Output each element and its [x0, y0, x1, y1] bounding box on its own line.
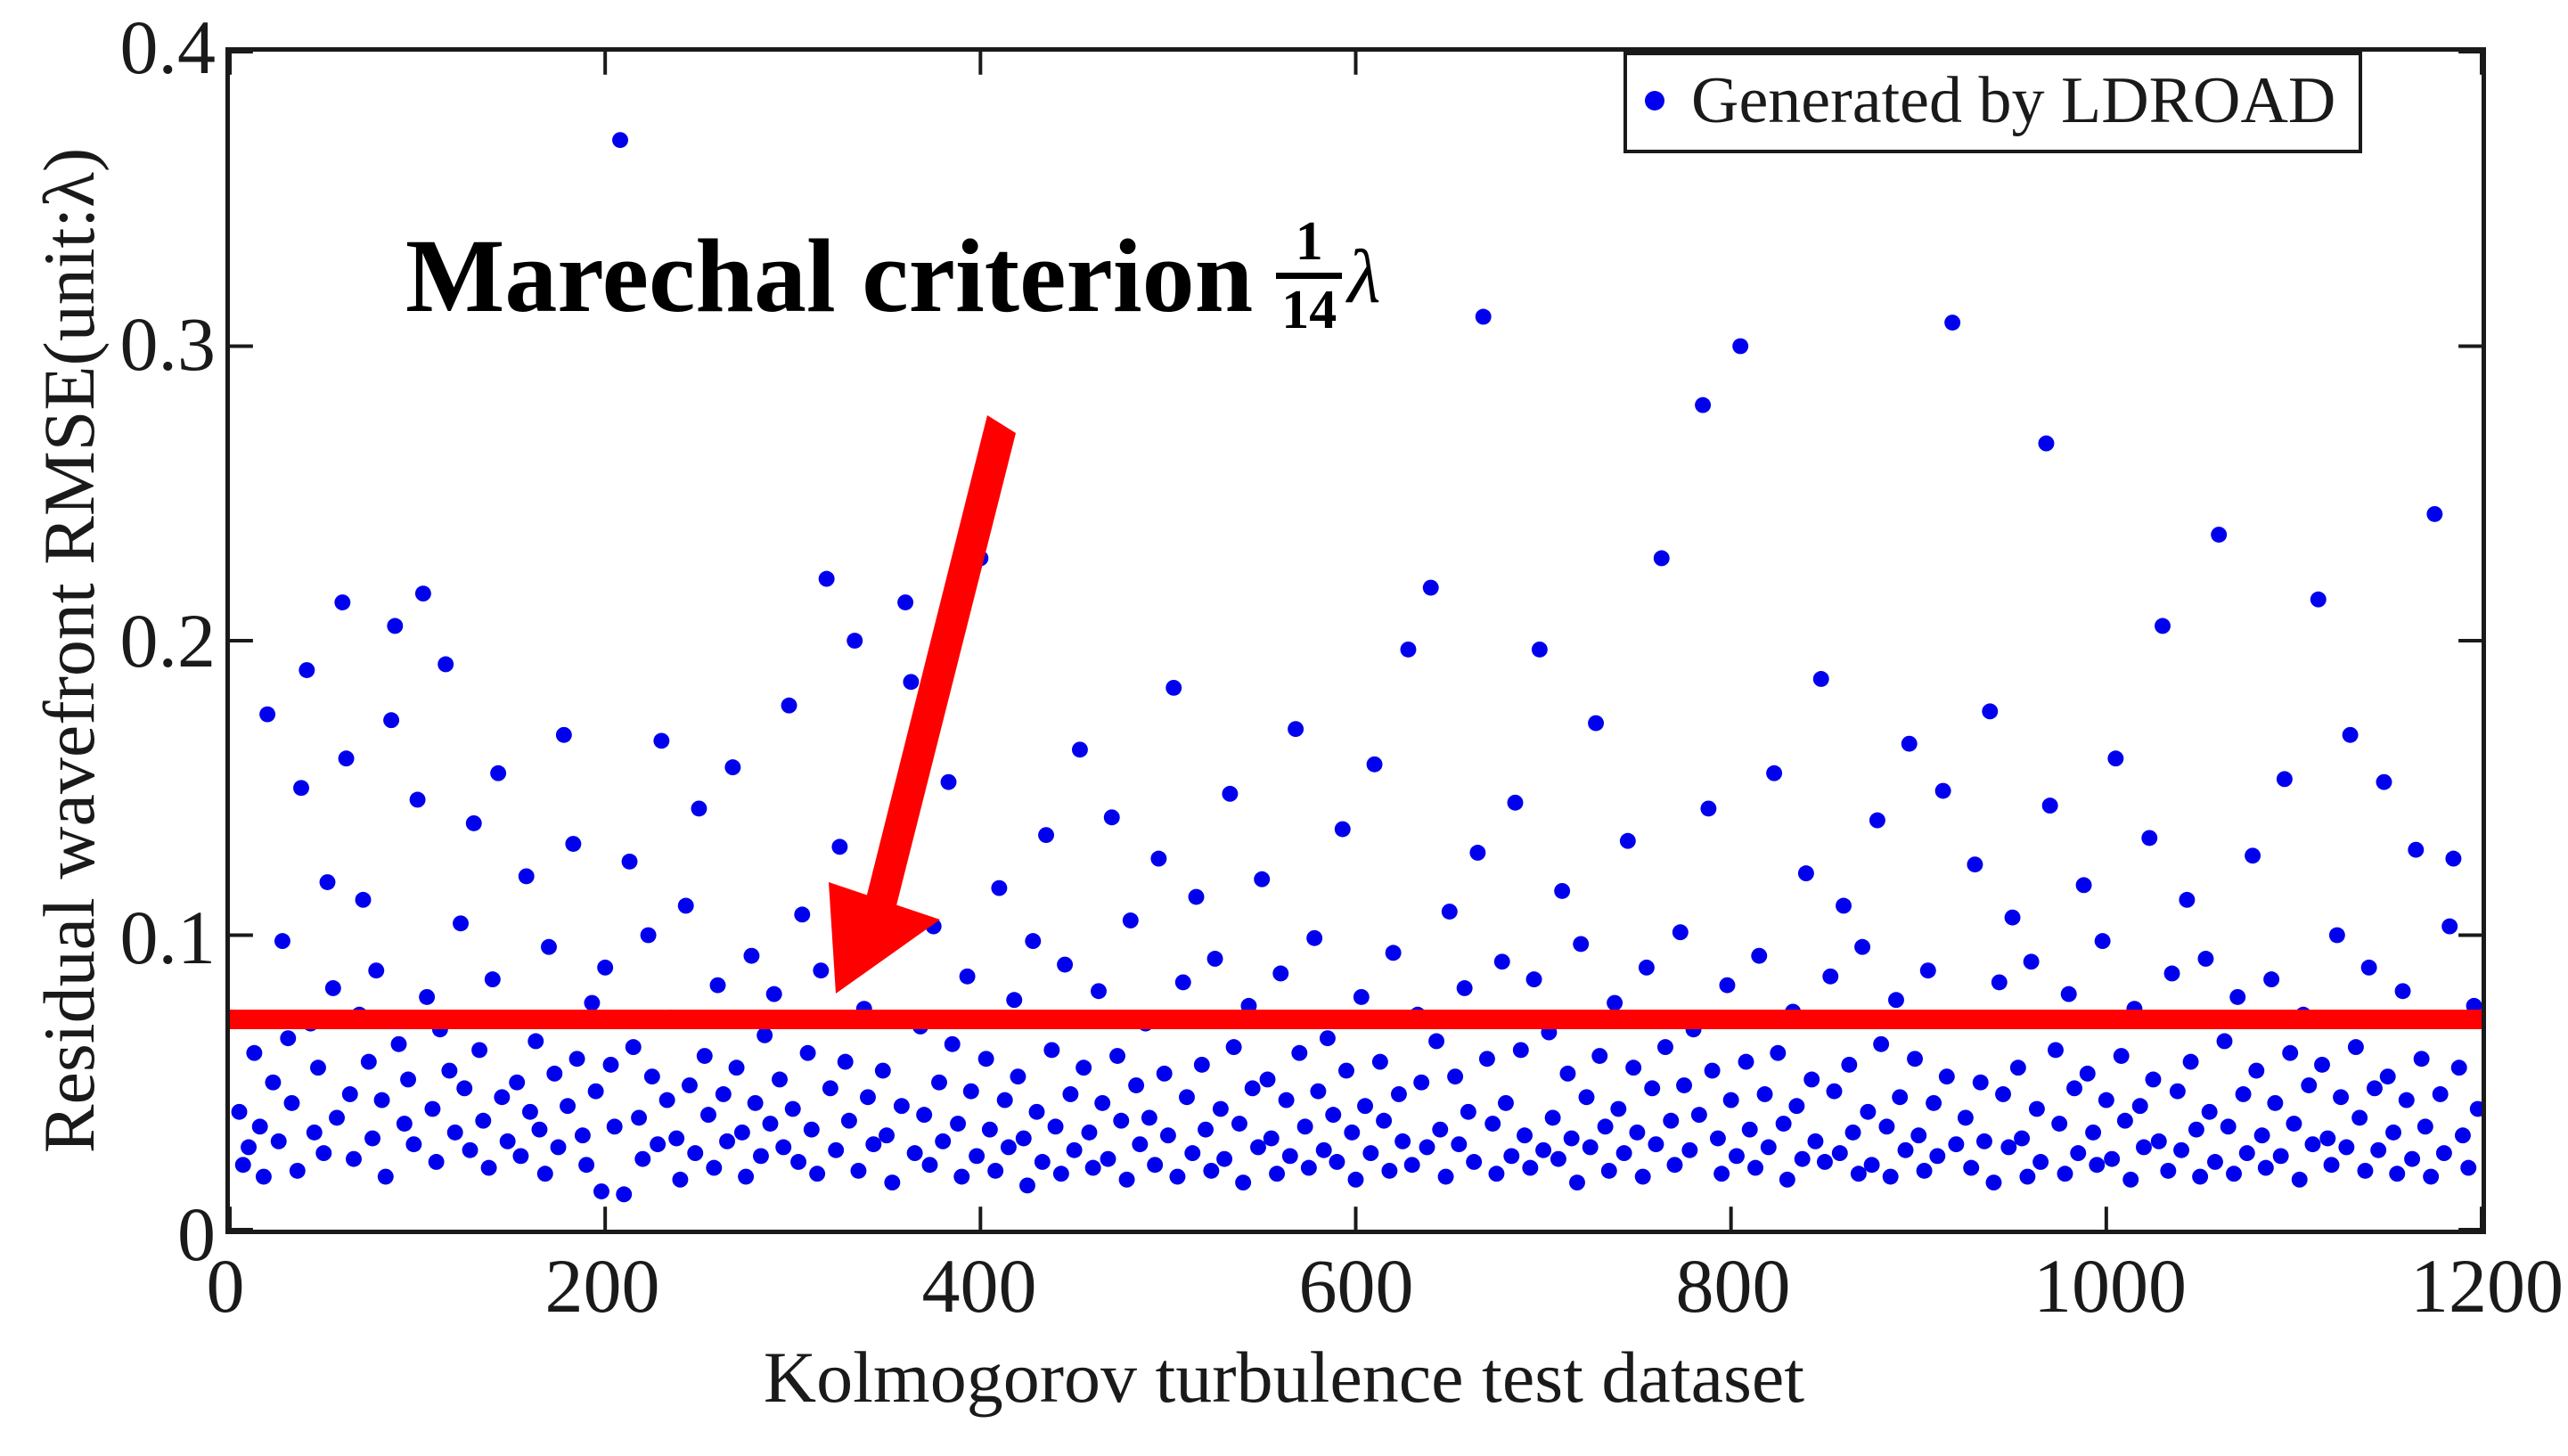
scatter-point — [706, 1160, 722, 1176]
scatter-point — [1381, 1163, 1397, 1179]
scatter-point — [1128, 1077, 1144, 1093]
scatter-point — [1282, 1148, 1298, 1164]
scatter-point — [809, 1166, 825, 1182]
scatter-point — [838, 1054, 854, 1070]
scatter-point — [1006, 992, 1022, 1008]
scatter-point — [2245, 847, 2261, 863]
scatter-point — [494, 1089, 510, 1105]
scatter-point — [2455, 1127, 2471, 1143]
scatter-point — [2005, 910, 2021, 926]
scatter-point — [1372, 1054, 1388, 1070]
scatter-point — [2207, 1154, 2223, 1170]
scatter-point — [2292, 1172, 2308, 1188]
scatter-point — [1513, 1042, 1529, 1058]
scatter-point — [1091, 983, 1107, 999]
scatter-point — [2277, 771, 2293, 787]
scatter-point — [342, 1086, 358, 1102]
scatter-point — [2282, 1045, 2298, 1061]
scatter-point — [775, 1140, 791, 1156]
scatter-point — [274, 933, 290, 949]
scatter-point — [1532, 642, 1548, 658]
scatter-point — [2107, 750, 2123, 766]
scatter-point — [2404, 1151, 2420, 1167]
scatter-point — [405, 1136, 421, 1152]
legend-dot-marker-icon — [1645, 91, 1664, 110]
scatter-point — [368, 962, 384, 978]
scatter-point — [1235, 1174, 1251, 1190]
scatter-point — [945, 1036, 961, 1052]
scatter-point — [1245, 1080, 1261, 1096]
scatter-point — [931, 1075, 947, 1091]
scatter-point — [256, 1169, 272, 1185]
y-axis-title-wrapper: Residual wavefront RMSE(unit:λ) — [29, 27, 118, 1274]
scatter-point — [1836, 898, 1852, 914]
scatter-point — [2080, 1066, 2096, 1082]
scatter-point — [265, 1075, 281, 1091]
scatter-point — [1072, 741, 1088, 757]
scatter-point — [822, 1080, 838, 1096]
scatter-point — [2038, 436, 2054, 452]
scatter-point — [419, 989, 435, 1005]
scatter-point — [1386, 945, 1402, 961]
scatter-point — [1591, 1048, 1607, 1064]
scatter-point — [1460, 1104, 1476, 1120]
x-tick-label-1000: 1000 — [1976, 1247, 2244, 1324]
scatter-point — [616, 1186, 632, 1202]
scatter-point — [1710, 1131, 1726, 1147]
scatter-point — [1231, 1116, 1247, 1132]
scatter-point — [2014, 1131, 2030, 1147]
scatter-point — [1854, 939, 1870, 955]
scatter-point — [2389, 1166, 2405, 1182]
scatter-point — [1194, 1057, 1210, 1073]
scatter-point — [1085, 1160, 1101, 1176]
scatter-point — [2095, 933, 2111, 949]
x-tick-label-600: 600 — [1223, 1247, 1490, 1324]
scatter-point — [397, 1116, 413, 1132]
scatter-point — [307, 1125, 323, 1141]
scatter-point — [987, 1163, 1003, 1179]
scatter-point — [997, 1092, 1013, 1108]
scatter-point — [1100, 1151, 1116, 1167]
scatter-point — [1907, 1051, 1923, 1067]
scatter-point — [1554, 883, 1570, 899]
x-tick-label-400: 400 — [846, 1247, 1113, 1324]
scatter-point — [2441, 919, 2458, 935]
scatter-point — [1469, 845, 1485, 861]
scatter-point — [1910, 1127, 1926, 1143]
legend-entry-label: Generated by LDROAD — [1691, 64, 2335, 137]
scatter-point — [1016, 1131, 1032, 1147]
scatter-point — [2239, 1145, 2255, 1161]
scatter-point — [410, 792, 426, 808]
scatter-point — [2164, 966, 2180, 982]
scatter-point — [1423, 580, 1439, 596]
scatter-point — [387, 618, 403, 634]
scatter-point — [870, 942, 886, 958]
scatter-point — [716, 1086, 732, 1102]
scatter-point — [2460, 1160, 2476, 1176]
scatter-point — [447, 1125, 463, 1141]
scatter-point — [475, 1113, 491, 1129]
scatter-point — [2151, 1133, 2167, 1149]
scatter-point — [691, 800, 707, 816]
x-tick-label-1200: 1200 — [2353, 1247, 2568, 1324]
scatter-point — [246, 1045, 262, 1061]
scatter-point — [1479, 1051, 1495, 1067]
scatter-point — [1583, 1140, 1599, 1156]
scatter-point — [1676, 1077, 1692, 1093]
scatter-point — [2197, 951, 2213, 967]
scatter-point — [537, 1166, 553, 1182]
scatter-point — [1873, 1036, 1889, 1052]
scatter-point — [2286, 1116, 2302, 1132]
scatter-point — [1029, 1104, 1045, 1120]
scatter-point — [2024, 953, 2040, 969]
scatter-point — [2408, 842, 2424, 858]
scatter-point — [551, 1140, 567, 1156]
scatter-point — [1301, 1160, 1317, 1176]
scatter-point — [1150, 851, 1166, 867]
scatter-point — [271, 1133, 287, 1149]
scatter-point — [1610, 1101, 1626, 1117]
scatter-point — [1466, 1154, 1482, 1170]
scatter-point — [1779, 1172, 1795, 1188]
scatter-point — [2258, 1160, 2274, 1176]
scatter-point — [631, 1109, 647, 1125]
fraction-numerator: 1 — [1290, 214, 1329, 269]
scatter-point — [2076, 877, 2092, 893]
scatter-point — [1948, 1136, 1964, 1152]
scatter-point — [1297, 1118, 1313, 1134]
scatter-point — [1522, 1160, 1538, 1176]
scatter-point — [804, 1122, 820, 1138]
scatter-point — [1451, 1136, 1467, 1152]
scatter-point — [678, 898, 694, 914]
scatter-point — [1776, 1116, 1792, 1132]
scatter-point — [2445, 851, 2461, 867]
scatter-point — [700, 1107, 716, 1123]
scatter-point — [252, 1118, 268, 1134]
scatter-point — [1944, 315, 1960, 331]
scatter-point — [1503, 1148, 1519, 1164]
scatter-point — [2173, 1142, 2189, 1158]
scatter-point — [1705, 1063, 1721, 1079]
scatter-point — [1062, 1086, 1078, 1102]
scatter-point — [1320, 1030, 1336, 1046]
marechal-annotation: Marechal criterion 1 14 λ — [405, 214, 1381, 338]
scatter-point — [575, 1127, 591, 1143]
scatter-point — [429, 1154, 445, 1170]
scatter-point — [2380, 1068, 2396, 1084]
scatter-point — [2183, 1054, 2199, 1070]
scatter-point — [1057, 957, 1073, 973]
scatter-point — [1038, 827, 1054, 843]
scatter-point — [2032, 1154, 2049, 1170]
scatter-point — [383, 712, 399, 728]
scatter-point — [2211, 527, 2227, 543]
scatter-point — [659, 1092, 675, 1108]
scatter-point — [1713, 1166, 1730, 1182]
scatter-point — [794, 906, 810, 922]
scatter-point — [969, 1148, 985, 1164]
legend-box[interactable]: Generated by LDROAD — [1623, 52, 2362, 153]
scatter-point — [2395, 983, 2411, 999]
scatter-point — [1113, 1113, 1129, 1129]
scatter-point — [1564, 1131, 1580, 1147]
scatter-point — [907, 1145, 923, 1161]
scatter-point — [846, 633, 863, 649]
scatter-point — [1160, 1127, 1176, 1143]
scatter-point — [1588, 716, 1604, 732]
scatter-point — [982, 1122, 998, 1138]
scatter-point — [1165, 680, 1182, 696]
scatter-point — [2329, 928, 2345, 944]
scatter-point — [2310, 592, 2327, 608]
scatter-point — [2057, 1166, 2073, 1182]
scatter-point — [2089, 1157, 2105, 1173]
scatter-point — [1939, 1068, 1955, 1084]
scatter-point — [831, 838, 847, 855]
scatter-point — [471, 1042, 487, 1058]
scatter-point — [1898, 1142, 1914, 1158]
scatter-point — [953, 1169, 969, 1185]
scatter-point — [828, 1142, 844, 1158]
scatter-point — [1413, 1075, 1429, 1091]
scatter-point — [1119, 1172, 1135, 1188]
scatter-point — [1883, 1169, 1899, 1185]
scatter-point — [1639, 960, 1655, 976]
annotation-fraction: 1 14 λ — [1276, 214, 1380, 338]
scatter-point — [1672, 924, 1689, 940]
scatter-point — [1559, 1066, 1575, 1082]
x-axis-title: Kolmogorov turbulence test dataset — [0, 1337, 2568, 1419]
scatter-point — [743, 948, 759, 964]
scatter-point — [1648, 1136, 1664, 1152]
scatter-point — [481, 1160, 497, 1176]
scatter-point — [1476, 309, 1492, 325]
scatter-point — [1442, 904, 1458, 920]
scatter-point — [841, 1113, 857, 1129]
scatter-point — [1788, 1098, 1804, 1114]
scatter-point — [1457, 980, 1473, 996]
x-tick-label-800: 800 — [1599, 1247, 1867, 1324]
scatter-point — [1179, 1089, 1195, 1105]
scatter-point — [1094, 1095, 1110, 1111]
scatter-point — [2000, 1140, 2016, 1156]
scatter-point — [584, 995, 600, 1011]
scatter-point — [2423, 1169, 2439, 1185]
scatter-point — [1184, 1145, 1200, 1161]
scatter-point — [1644, 1080, 1660, 1096]
scatter-point — [2254, 1127, 2270, 1143]
scatter-point — [1973, 1075, 1989, 1091]
scatter-point — [531, 1122, 547, 1138]
scatter-point — [2132, 1098, 2148, 1114]
scatter-point — [612, 132, 628, 148]
fraction-denominator: 14 — [1276, 282, 1342, 338]
scatter-point — [593, 1183, 609, 1199]
scatter-point — [1654, 551, 1670, 567]
scatter-point — [1019, 1177, 1035, 1193]
scatter-point — [334, 594, 350, 610]
scatter-point — [2399, 1092, 2415, 1108]
scatter-point — [2376, 774, 2392, 790]
scatter-point — [800, 1045, 816, 1061]
scatter-point — [1082, 1125, 1098, 1141]
scatter-point — [2141, 830, 2157, 847]
scatter-point — [1344, 1125, 1360, 1141]
scatter-point — [2019, 1169, 2035, 1185]
scatter-point — [1719, 977, 1735, 994]
scatter-point — [634, 1151, 650, 1167]
scatter-point — [1043, 1042, 1059, 1058]
scatter-point — [1729, 1148, 1745, 1164]
scatter-point — [1991, 974, 2008, 990]
scatter-point — [1663, 1113, 1679, 1129]
scatter-point — [2414, 1051, 2430, 1067]
scatter-point — [1203, 1163, 1219, 1179]
scatter-point — [1892, 1089, 1908, 1105]
scatter-point — [235, 1157, 251, 1173]
scatter-point — [1770, 1045, 1786, 1061]
scatter-point — [1067, 1142, 1083, 1158]
scatter-point — [1935, 783, 1951, 799]
scatter-point — [888, 863, 904, 879]
scatter-point — [781, 698, 797, 714]
scatter-point — [2348, 1039, 2364, 1055]
scatter-point — [729, 1059, 745, 1076]
scatter-point — [1400, 642, 1416, 658]
scatter-point — [280, 1030, 296, 1046]
scatter-point — [509, 1075, 525, 1091]
scatter-point — [2236, 1086, 2252, 1102]
scatter-point — [1498, 1095, 1514, 1111]
scatter-point — [2273, 1148, 2289, 1164]
scatter-point — [916, 1107, 932, 1123]
scatter-point — [1803, 1072, 1820, 1088]
scatter-point — [935, 1133, 951, 1149]
scatter-point — [2160, 1163, 2176, 1179]
scatter-point — [588, 1084, 604, 1100]
scatter-point — [2217, 1034, 2233, 1050]
annotation-label: Marechal criterion — [405, 219, 1253, 333]
scatter-point — [1573, 936, 1589, 952]
scatter-point — [879, 1127, 895, 1143]
scatter-point — [1700, 800, 1716, 816]
scatter-point — [400, 1072, 416, 1088]
scatter-point — [753, 1148, 769, 1164]
scatter-point — [565, 836, 581, 852]
scatter-point — [1010, 1068, 1026, 1084]
scatter-point — [2170, 1084, 2186, 1100]
scatter-point — [1625, 1059, 1641, 1076]
scatter-point — [1822, 969, 1838, 985]
scatter-point — [1657, 1039, 1673, 1055]
scatter-point — [1635, 1169, 1651, 1185]
scatter-point — [1901, 736, 1918, 752]
scatter-point — [719, 1133, 735, 1149]
scatter-point — [790, 1154, 806, 1170]
scatter-point — [1222, 786, 1238, 802]
scatter-point — [1926, 1095, 1942, 1111]
scatter-point — [361, 1054, 377, 1070]
scatter-point — [672, 1172, 688, 1188]
scatter-point — [1620, 833, 1636, 849]
scatter-point — [346, 1151, 362, 1167]
scatter-point — [2333, 1089, 2349, 1105]
scatter-point — [1306, 930, 1322, 946]
scatter-point — [456, 1080, 472, 1096]
scatter-point — [1075, 1059, 1092, 1076]
scatter-point — [1732, 339, 1748, 355]
scatter-point — [1888, 992, 1904, 1008]
scatter-point — [453, 915, 469, 931]
scatter-point — [1325, 1107, 1341, 1123]
scatter-point — [1123, 912, 1139, 928]
scatter-point — [1269, 1166, 1285, 1182]
scatter-point — [1681, 1142, 1697, 1158]
scatter-point — [1260, 1072, 1276, 1088]
fraction-bar-icon — [1276, 273, 1342, 279]
scatter-point — [441, 1063, 457, 1079]
scatter-point — [284, 1095, 300, 1111]
scatter-point — [650, 1136, 666, 1152]
scatter-point — [641, 928, 657, 944]
scatter-point — [1795, 1151, 1811, 1167]
scatter-point — [2319, 1131, 2335, 1147]
scatter-point — [293, 780, 309, 796]
scatter-point — [1391, 1086, 1407, 1102]
scatter-point — [1995, 1086, 2011, 1102]
scatter-point — [2010, 1059, 2026, 1076]
scatter-point — [1109, 1048, 1125, 1064]
scatter-point — [1817, 1154, 1833, 1170]
scatter-point — [1175, 974, 1191, 990]
scatter-point — [894, 1098, 910, 1114]
scatter-point — [2226, 1166, 2242, 1182]
scatter-point — [1982, 703, 1998, 719]
scatter-point — [763, 1116, 779, 1132]
scatter-point — [2188, 1122, 2204, 1138]
scatter-point — [1766, 765, 1782, 781]
scatter-point — [1827, 1084, 1843, 1100]
scatter-point — [1967, 856, 1983, 872]
y-axis-title: Residual wavefront RMSE(unit:λ) — [29, 27, 110, 1274]
scatter-point — [2301, 1077, 2317, 1093]
scatter-point — [500, 1133, 516, 1149]
scatter-point — [622, 854, 638, 870]
scatter-point — [1272, 966, 1288, 982]
scatter-point — [748, 1095, 764, 1111]
scatter-point — [1864, 1157, 1880, 1173]
scatter-point — [875, 1063, 891, 1079]
scatter-point — [1335, 822, 1351, 838]
scatter-point — [884, 1174, 900, 1190]
scatter-point — [2436, 1145, 2452, 1161]
scatter-point — [766, 986, 782, 1002]
scatter-point — [1419, 1140, 1435, 1156]
scatter-point — [2451, 1059, 2467, 1076]
scatter-point — [560, 1098, 576, 1114]
scatter-point — [1920, 962, 1936, 978]
scatter-point — [1484, 1116, 1501, 1132]
scatter-point — [785, 1101, 801, 1117]
scatter-point — [960, 969, 976, 985]
scatter-point — [1329, 1154, 1345, 1170]
scatter-point — [2367, 1080, 2383, 1096]
scatter-point — [2029, 1101, 2045, 1117]
